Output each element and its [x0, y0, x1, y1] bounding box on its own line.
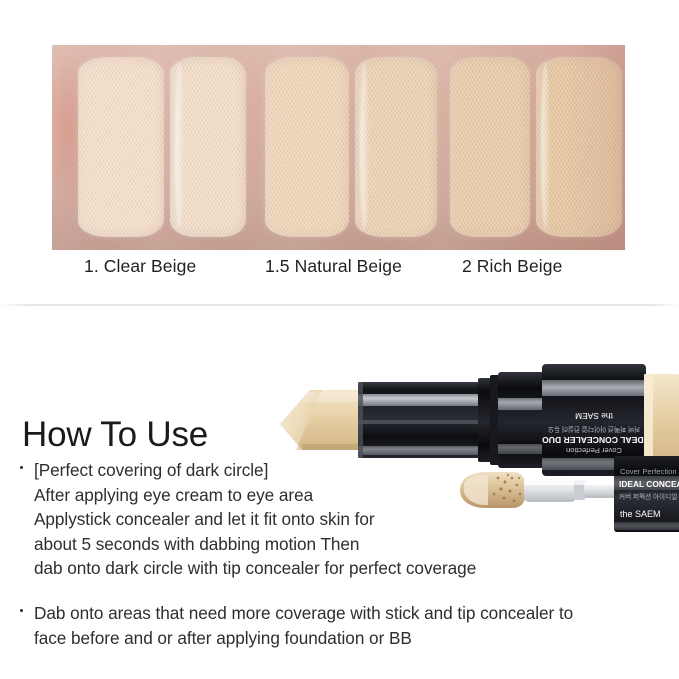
shade-swatch-photo: [52, 45, 625, 250]
swatch-streak: [360, 63, 369, 229]
bullet-extra-coverage-text: Dab onto areas that need more coverage w…: [34, 601, 618, 650]
shade-label: 2 Rich Beige: [462, 256, 562, 277]
page-title: How To Use: [22, 417, 208, 452]
swatch-edge: [265, 57, 349, 237]
shade-swatch: [355, 57, 437, 237]
shade-swatch-section: 1. Clear Beige1.5 Natural Beige2 Rich Be…: [0, 0, 679, 305]
shade-label: 1.5 Natural Beige: [265, 256, 402, 277]
bullet-dot-icon: [20, 609, 23, 612]
shade-swatch: [265, 57, 349, 237]
shade-label: 1. Clear Beige: [84, 256, 196, 277]
swatch-edge: [78, 57, 164, 237]
swatch-streak: [541, 63, 550, 229]
shade-swatch: [170, 57, 246, 237]
how-to-use-steps: [Perfect covering of dark circle] After …: [18, 458, 618, 650]
swatch-edge: [450, 57, 530, 237]
bullet-dark-circle-text: [Perfect covering of dark circle] After …: [34, 458, 618, 581]
shade-swatch: [450, 57, 530, 237]
bullet-extra-coverage: Dab onto areas that need more coverage w…: [18, 601, 618, 650]
bullet-dot-icon: [20, 466, 23, 469]
bullet-dark-circle: [Perfect covering of dark circle] After …: [18, 458, 618, 581]
shade-swatch: [78, 57, 164, 237]
swatch-streak: [175, 63, 184, 229]
shade-label-row: 1. Clear Beige1.5 Natural Beige2 Rich Be…: [52, 256, 625, 286]
shade-swatch: [536, 57, 622, 237]
